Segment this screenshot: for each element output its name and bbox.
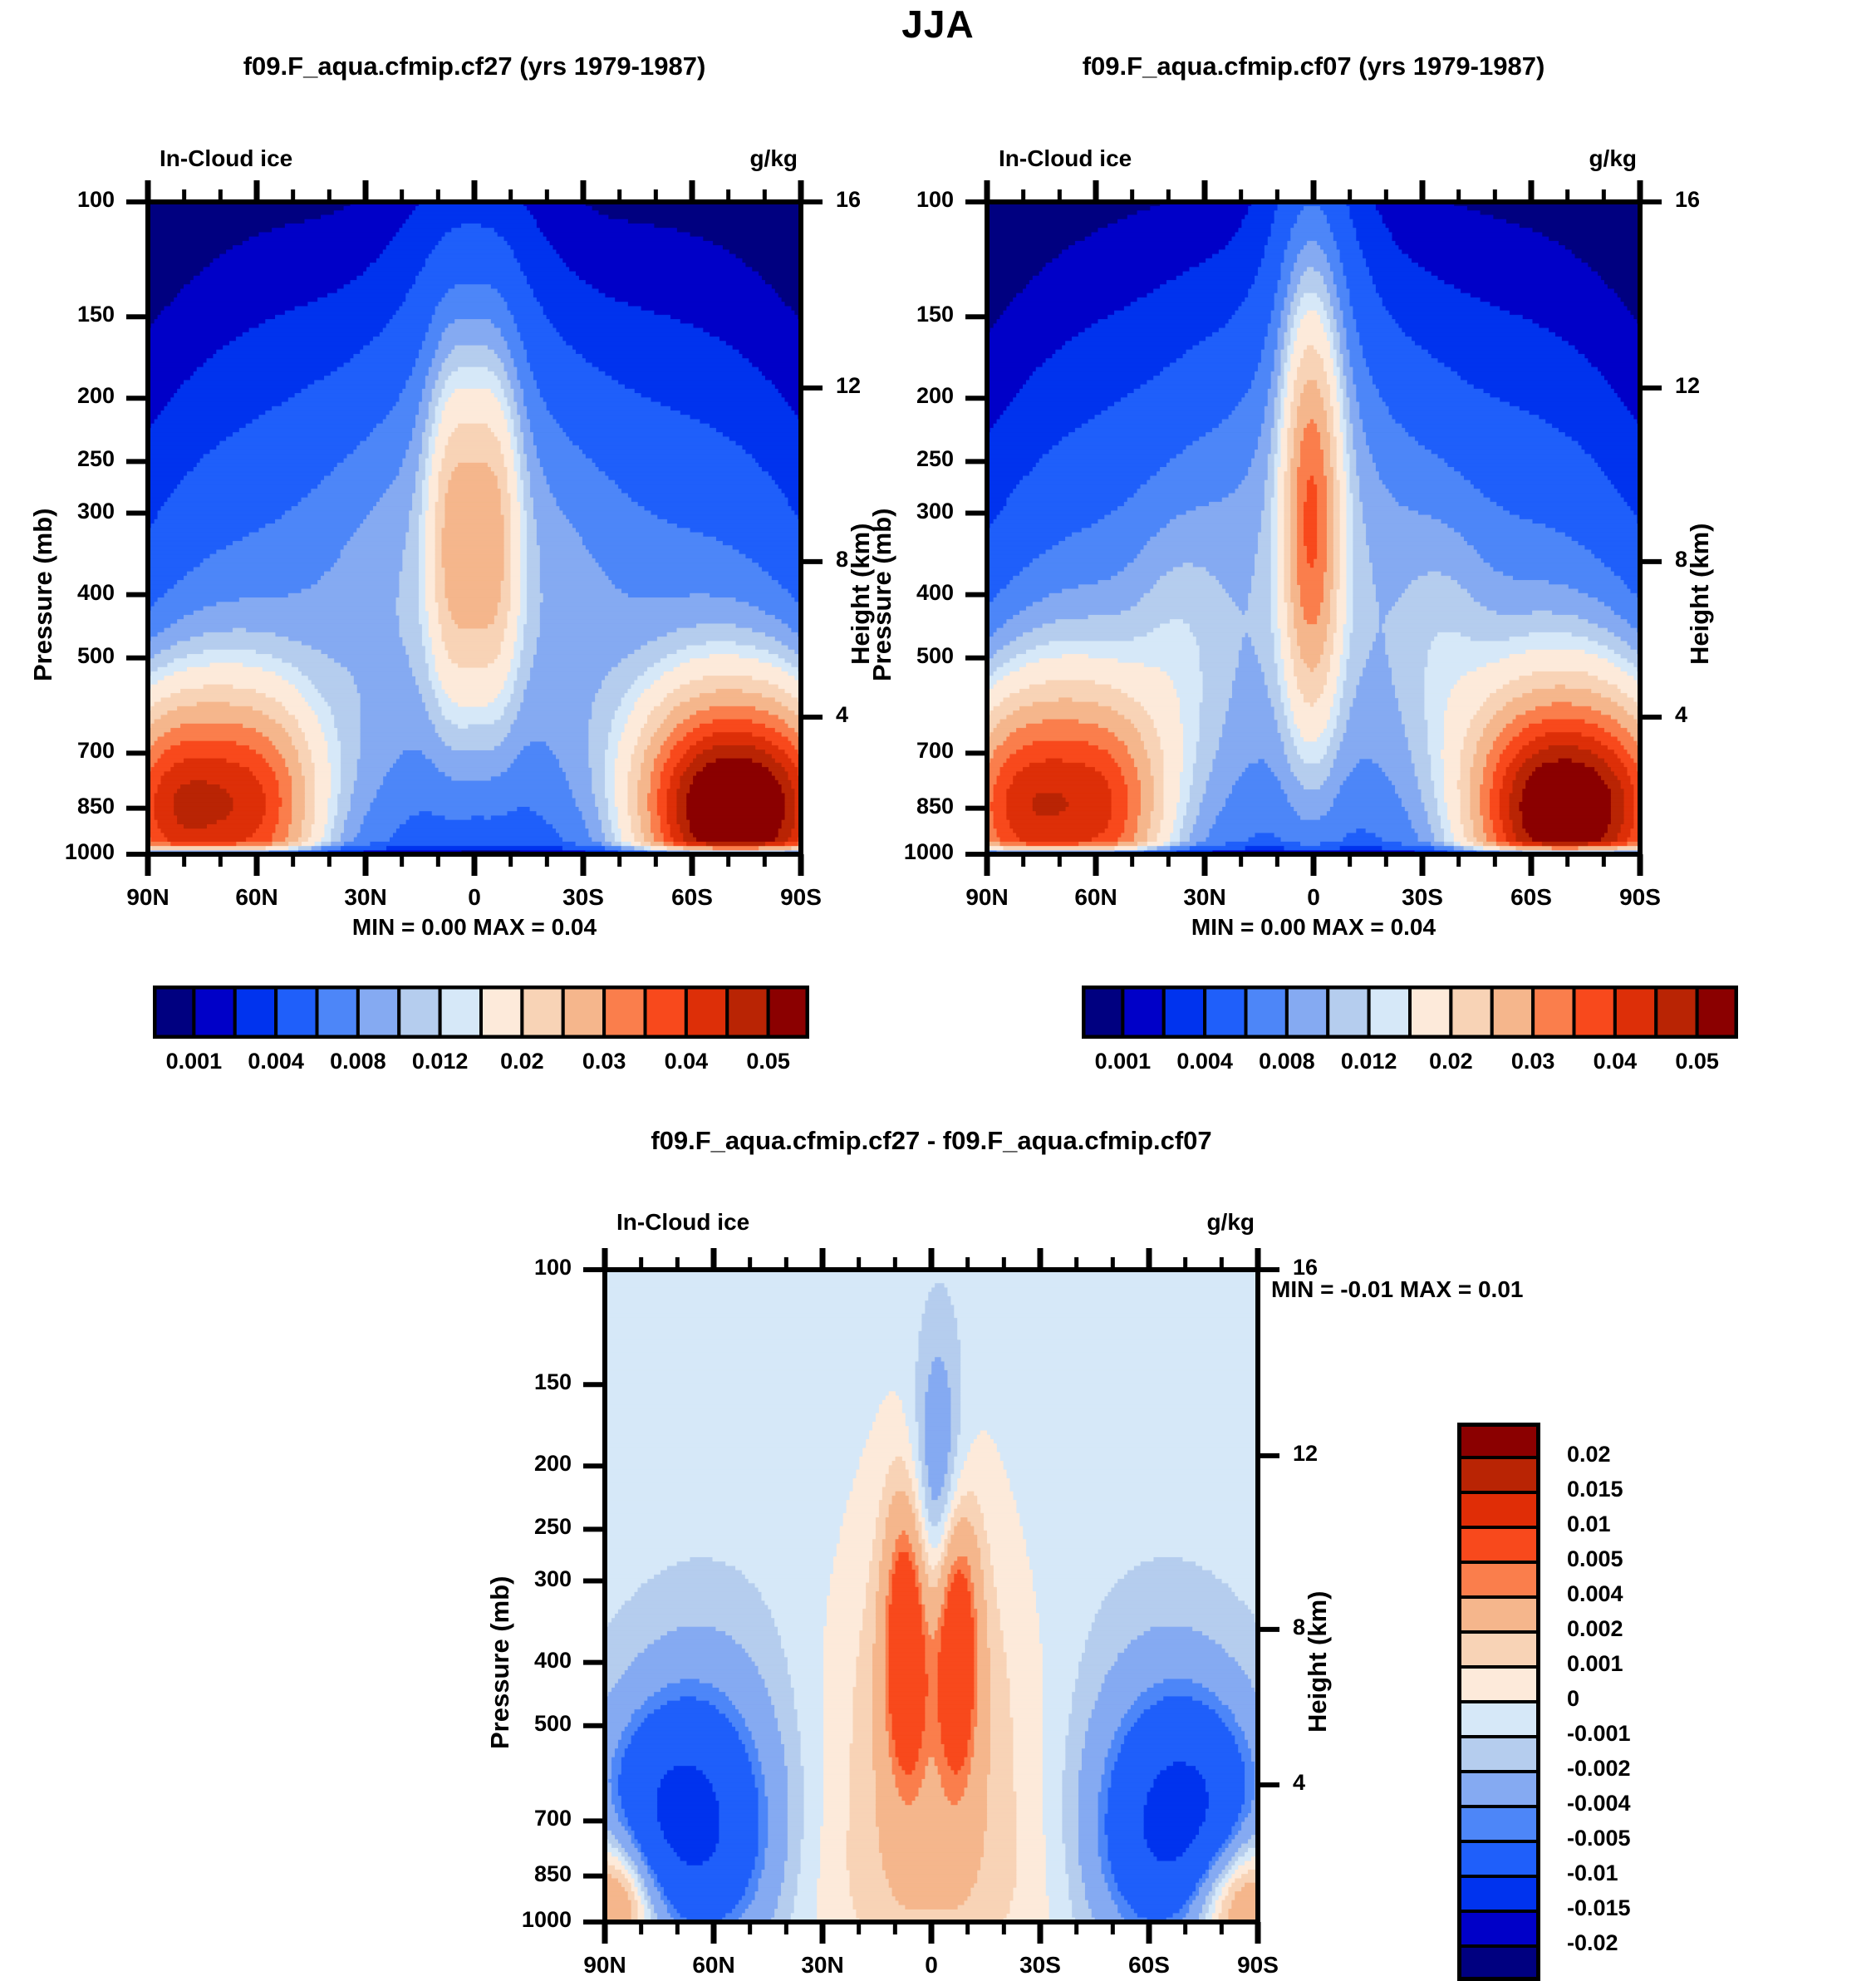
panel-top-left-pressure-tick: 700 xyxy=(0,738,115,764)
panel-top-right-units-label: g/kg xyxy=(1557,145,1637,172)
colorbar-vertical-label: -0.002 xyxy=(1567,1756,1775,1782)
colorbar-vertical-label: 0.01 xyxy=(1567,1512,1775,1537)
colorbar-vertical-label: -0.001 xyxy=(1567,1721,1775,1747)
colorbar-vertical-label: -0.02 xyxy=(1567,1930,1775,1956)
colorbar-vertical-label: 0.02 xyxy=(1567,1442,1775,1467)
panel-difference-variable-label: In-Cloud ice xyxy=(616,1209,749,1236)
panel-top-left xyxy=(90,144,859,912)
panel-top-left-lat-tick: 0 xyxy=(416,884,533,911)
panel-top-right-lat-tick: 90N xyxy=(929,884,1045,911)
panel-difference-lat-tick: 30S xyxy=(982,1952,1098,1979)
panel-top-right-ylabel: Pressure (mb) xyxy=(867,509,897,681)
panel-difference-pressure-tick: 700 xyxy=(447,1806,572,1831)
panel-top-left-pressure-tick: 150 xyxy=(0,302,115,327)
panel-difference-pressure-tick: 100 xyxy=(447,1255,572,1281)
panel-difference xyxy=(547,1212,1316,1980)
colorbar-vertical-label: 0.005 xyxy=(1567,1546,1775,1572)
panel-top-right-pressure-tick: 200 xyxy=(829,383,954,409)
panel-top-right-lat-tick: 60N xyxy=(1038,884,1154,911)
panel-difference-lat-tick: 30N xyxy=(764,1952,881,1979)
panel-top-right-pressure-tick: 700 xyxy=(829,738,954,764)
panel-difference-minmax: MIN = -0.01 MAX = 0.01 xyxy=(1271,1276,1770,1303)
panel-top-right-pressure-tick: 250 xyxy=(829,446,954,472)
panel-top-right-ylabel-right: Height (km) xyxy=(1685,524,1715,666)
panel-top-right-lat-tick: 30S xyxy=(1364,884,1481,911)
panel-difference-lat-tick: 90S xyxy=(1200,1952,1316,1979)
colorbar-vertical-label: 0 xyxy=(1567,1686,1775,1712)
panel-top-right-height-tick: 16 xyxy=(1675,187,1750,213)
panel-difference-ylabel: Pressure (mb) xyxy=(485,1576,515,1749)
colorbar-vertical-label: -0.004 xyxy=(1567,1791,1775,1816)
panel-difference-height-tick: 12 xyxy=(1293,1441,1368,1467)
panel-top-left-units-label: g/kg xyxy=(718,145,798,172)
panel-top-left-lat-tick: 90N xyxy=(90,884,206,911)
panel-top-left-variable-label: In-Cloud ice xyxy=(160,145,292,172)
panel-top-left-lat-tick: 60S xyxy=(634,884,750,911)
panel-top-left-pressure-tick: 200 xyxy=(0,383,115,409)
panel-top-right-pressure-tick: 100 xyxy=(829,187,954,213)
panel-top-right-lat-tick: 30N xyxy=(1147,884,1263,911)
panel-difference-height-tick: 4 xyxy=(1293,1770,1368,1796)
colorbar-vertical-label: 0.002 xyxy=(1567,1616,1775,1642)
panel-top-left-lat-tick: 30N xyxy=(307,884,424,911)
panel-top-left-lat-tick: 90S xyxy=(743,884,859,911)
panel-top-left-pressure-tick: 1000 xyxy=(0,839,115,865)
panel-top-right-title: f09.F_aqua.cfmip.cf07 (yrs 1979-1987) xyxy=(821,52,1806,81)
panel-top-right-plot xyxy=(929,144,1698,912)
panel-top-right-minmax: MIN = 0.00 MAX = 0.04 xyxy=(821,914,1806,941)
panel-top-right-height-tick: 4 xyxy=(1675,702,1750,728)
colorbar-vertical xyxy=(1457,1423,1540,1981)
panel-top-right-pressure-tick: 1000 xyxy=(829,839,954,865)
colorbar-vertical-label: -0.005 xyxy=(1567,1826,1775,1851)
panel-difference-pressure-tick: 250 xyxy=(447,1514,572,1540)
panel-top-left-ylabel: Pressure (mb) xyxy=(28,509,58,681)
main-title: JJA xyxy=(0,2,1876,47)
panel-top-left-pressure-tick: 100 xyxy=(0,187,115,213)
panel-difference-pressure-tick: 150 xyxy=(447,1369,572,1395)
panel-difference-title: f09.F_aqua.cfmip.cf27 - f09.F_aqua.cfmip… xyxy=(439,1126,1424,1156)
panel-difference-pressure-tick: 200 xyxy=(447,1451,572,1477)
colorbar-horizontal-0-label: 0.05 xyxy=(698,1049,839,1074)
colorbar-vertical-label: 0.004 xyxy=(1567,1581,1775,1607)
panel-top-right-lat-tick: 60S xyxy=(1473,884,1589,911)
panel-top-left-lat-tick: 30S xyxy=(525,884,641,911)
panel-top-right-lat-tick: 0 xyxy=(1255,884,1372,911)
panel-difference-lat-tick: 60S xyxy=(1091,1952,1207,1979)
colorbar-horizontal-1 xyxy=(1082,986,1738,1039)
colorbar-horizontal-0 xyxy=(153,986,809,1039)
panel-difference-plot xyxy=(547,1212,1316,1980)
panel-top-right-height-tick: 12 xyxy=(1675,373,1750,399)
panel-difference-lat-tick: 0 xyxy=(873,1952,990,1979)
colorbar-vertical-label: 0.015 xyxy=(1567,1477,1775,1502)
panel-top-right-lat-tick: 90S xyxy=(1582,884,1698,911)
panel-top-right xyxy=(929,144,1698,912)
colorbar-horizontal-1-label: 0.05 xyxy=(1627,1049,1768,1074)
panel-top-right-pressure-tick: 150 xyxy=(829,302,954,327)
colorbar-horizontal-1-swatches xyxy=(1082,986,1738,1039)
figure-root: JJA f09.F_aqua.cfmip.cf27 (yrs 1979-1987… xyxy=(0,0,1876,1980)
panel-difference-units-label: g/kg xyxy=(1175,1209,1255,1236)
panel-difference-lat-tick: 90N xyxy=(547,1952,663,1979)
colorbar-horizontal-0-swatches xyxy=(153,986,809,1039)
colorbar-vertical-label: -0.01 xyxy=(1567,1861,1775,1886)
panel-top-left-pressure-tick: 250 xyxy=(0,446,115,472)
colorbar-vertical-label: 0.001 xyxy=(1567,1651,1775,1677)
panel-difference-lat-tick: 60N xyxy=(656,1952,772,1979)
panel-difference-pressure-tick: 850 xyxy=(447,1861,572,1887)
panel-difference-ylabel-right: Height (km) xyxy=(1303,1591,1333,1733)
panel-top-right-variable-label: In-Cloud ice xyxy=(999,145,1132,172)
panel-top-left-lat-tick: 60N xyxy=(199,884,315,911)
colorbar-vertical-swatches xyxy=(1457,1423,1540,1981)
panel-top-right-pressure-tick: 850 xyxy=(829,794,954,819)
panel-top-left-plot xyxy=(90,144,859,912)
colorbar-vertical-label: -0.015 xyxy=(1567,1895,1775,1921)
panel-top-left-pressure-tick: 850 xyxy=(0,794,115,819)
panel-difference-pressure-tick: 1000 xyxy=(447,1907,572,1933)
panel-top-left-height-tick: 4 xyxy=(836,702,911,728)
